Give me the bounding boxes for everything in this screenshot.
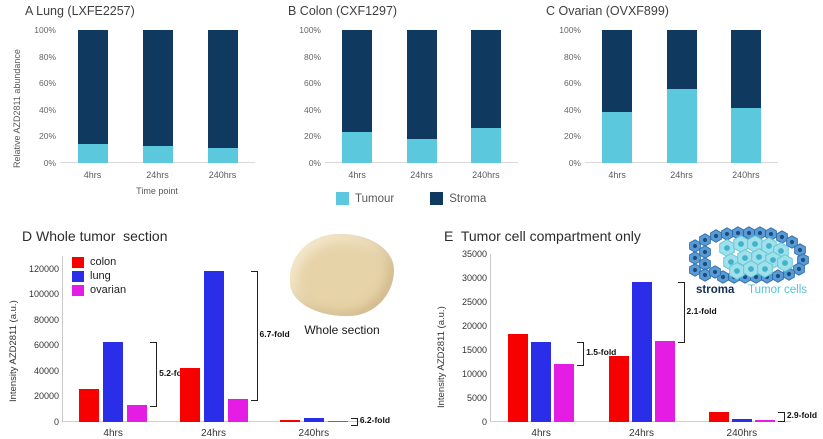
x-axis-tick: 240hrs xyxy=(299,428,330,439)
bar-segment-stroma xyxy=(143,30,173,146)
bar-colon xyxy=(280,420,300,422)
bar-ovarian xyxy=(228,399,248,422)
x-axis-tick: 24hrs xyxy=(410,170,433,180)
bar-segment-stroma xyxy=(342,30,372,132)
y-axis-tick: 100% xyxy=(4,25,56,35)
y-axis-tick: 5000 xyxy=(431,393,487,403)
y-axis-tick: 40% xyxy=(269,105,321,115)
fold-change-bracket xyxy=(678,282,685,343)
panel-c-title: C Ovarian (OVXF899) xyxy=(546,4,669,18)
y-axis-tick: 60% xyxy=(529,78,581,88)
bar-ovarian xyxy=(755,420,775,422)
y-axis-tick: 15000 xyxy=(431,345,487,355)
x-axis-tick: 24hrs xyxy=(146,170,169,180)
y-axis-tick: 20000 xyxy=(3,391,59,401)
x-axis-tick: 4hrs xyxy=(84,170,102,180)
y-axis-tick: 20% xyxy=(269,131,321,141)
stacked-bar xyxy=(407,30,437,163)
legend-label-stroma: Stroma xyxy=(449,193,486,205)
y-axis-tick: 30000 xyxy=(431,273,487,283)
fold-change-bracket xyxy=(351,418,358,426)
x-axis-tick: 4hrs xyxy=(608,170,626,180)
cell-diagram-label-stroma: stroma xyxy=(696,284,734,296)
panel-a-plot-area: 0%20%40%60%80%100%4hrs24hrs240hrs xyxy=(60,30,255,163)
x-axis-tick: 24hrs xyxy=(201,428,226,439)
stroma-swatch-icon xyxy=(430,192,443,205)
legend-tumour-stroma: Tumour Stroma xyxy=(336,192,486,205)
bar-segment-tumour xyxy=(602,112,632,163)
fold-change-label: 6.2-fold xyxy=(360,415,390,425)
stacked-bar xyxy=(208,30,238,163)
legend-item-stroma: Stroma xyxy=(430,192,486,205)
bar-ovarian xyxy=(328,421,348,423)
y-axis-tick: 120000 xyxy=(3,264,59,274)
bar-colon xyxy=(79,389,99,422)
legend-label-ovarian: ovarian xyxy=(90,284,126,296)
bar-colon xyxy=(508,334,528,422)
colon-swatch-icon xyxy=(72,257,84,268)
stacked-bar xyxy=(731,30,761,163)
y-axis-tick: 80% xyxy=(529,52,581,62)
stacked-bar xyxy=(143,30,173,163)
bar-segment-stroma xyxy=(78,30,108,144)
panel-a-x-axis-title: Time point xyxy=(136,186,178,196)
bar-lung xyxy=(103,342,123,422)
y-axis-tick: 60% xyxy=(4,78,56,88)
bar-segment-tumour xyxy=(407,139,437,163)
tumor-stroma-cell-diagram xyxy=(675,224,823,286)
x-axis-tick: 24hrs xyxy=(629,428,654,439)
panel-e-title: E Tumor cell compartment only xyxy=(444,228,641,244)
fold-change-bracket xyxy=(778,412,785,422)
y-axis-tick: 0 xyxy=(431,417,487,427)
tissue-section-caption: Whole section xyxy=(304,323,379,337)
panel-b-title: B Colon (CXF1297) xyxy=(288,4,397,18)
panel-c-ovarian: C Ovarian (OVXF899) 0%20%40%60%80%100%4h… xyxy=(543,0,823,200)
x-axis-tick: 240hrs xyxy=(727,428,758,439)
y-axis-tick: 40000 xyxy=(3,366,59,376)
x-axis-tick: 240hrs xyxy=(732,170,760,180)
y-axis-tick: 0% xyxy=(269,158,321,168)
bar-segment-tumour xyxy=(208,148,238,163)
cell-diagram-label-tumor: Tumor cells xyxy=(748,284,807,296)
legend-item-tumour: Tumour xyxy=(336,192,394,205)
panel-b-colon: B Colon (CXF1297) 0%20%40%60%80%100%4hrs… xyxy=(283,0,543,200)
stacked-bar xyxy=(78,30,108,163)
panel-d-title: D Whole tumor section xyxy=(22,228,168,244)
stacked-bar xyxy=(342,30,372,163)
bar-segment-tumour xyxy=(471,128,501,163)
fold-change-bracket xyxy=(577,342,584,367)
y-axis-tick: 100% xyxy=(529,25,581,35)
y-axis-tick: 80% xyxy=(4,52,56,62)
bar-segment-stroma xyxy=(407,30,437,139)
panel-d-whole-tumor-section: D Whole tumor section Intensity AZD2811 … xyxy=(0,222,430,437)
y-axis-tick: 100000 xyxy=(3,289,59,299)
bar-lung xyxy=(632,282,652,422)
fold-change-bracket xyxy=(251,271,258,401)
panel-c-plot-area: 0%20%40%60%80%100%4hrs24hrs240hrs xyxy=(585,30,778,163)
fold-change-label: 6.7-fold xyxy=(260,329,290,339)
y-axis-tick: 20000 xyxy=(431,321,487,331)
panel-b-plot-area: 0%20%40%60%80%100%4hrs24hrs240hrs xyxy=(325,30,518,163)
bar-ovarian xyxy=(127,405,147,422)
bar-lung xyxy=(204,271,224,422)
bar-lung xyxy=(732,419,752,422)
bar-segment-stroma xyxy=(667,30,697,89)
stacked-bar xyxy=(471,30,501,163)
x-axis-tick: 240hrs xyxy=(209,170,237,180)
panel-d-legend: colon lung ovarian xyxy=(72,256,126,298)
y-axis-tick: 0% xyxy=(529,158,581,168)
bar-segment-stroma xyxy=(471,30,501,128)
bar-segment-tumour xyxy=(78,144,108,163)
x-axis-tick: 24hrs xyxy=(670,170,693,180)
y-axis-tick: 40% xyxy=(529,105,581,115)
x-axis-tick: 4hrs xyxy=(531,428,550,439)
bar-segment-tumour xyxy=(342,132,372,163)
y-axis-tick: 10000 xyxy=(431,369,487,379)
bar-colon xyxy=(609,356,629,422)
stacked-bar xyxy=(667,30,697,163)
x-axis-tick: 240hrs xyxy=(472,170,500,180)
y-axis-tick: 20% xyxy=(529,131,581,141)
y-axis-tick: 0% xyxy=(4,158,56,168)
bar-ovarian xyxy=(655,341,675,422)
bar-colon xyxy=(180,368,200,422)
lung-swatch-icon xyxy=(72,271,84,282)
panel-a-title: A Lung (LXFE2257) xyxy=(25,4,135,18)
x-axis-tick: 4hrs xyxy=(103,428,122,439)
tumour-swatch-icon xyxy=(336,192,349,205)
x-axis-tick: 4hrs xyxy=(348,170,366,180)
bar-segment-stroma xyxy=(208,30,238,148)
y-axis-tick: 60000 xyxy=(3,340,59,350)
y-axis-tick: 80% xyxy=(269,52,321,62)
y-axis-tick: 80000 xyxy=(3,315,59,325)
panel-e-tumor-cell-compartment: E Tumor cell compartment only Intensity … xyxy=(430,222,823,437)
y-axis-tick: 25000 xyxy=(431,297,487,307)
legend-label-lung: lung xyxy=(90,270,111,282)
legend-label-colon: colon xyxy=(90,256,116,268)
tissue-section-image xyxy=(290,234,394,316)
ovarian-swatch-icon xyxy=(72,285,84,296)
y-axis-tick: 40% xyxy=(4,105,56,115)
bar-segment-stroma xyxy=(602,30,632,112)
bar-segment-stroma xyxy=(731,30,761,108)
y-axis-tick: 35000 xyxy=(431,249,487,259)
bar-segment-tumour xyxy=(731,108,761,163)
y-axis-tick: 60% xyxy=(269,78,321,88)
bar-lung xyxy=(531,342,551,422)
legend-label-tumour: Tumour xyxy=(355,193,394,205)
fold-change-label: 2.1-fold xyxy=(687,306,717,316)
bar-ovarian xyxy=(554,364,574,422)
bar-segment-tumour xyxy=(143,146,173,163)
fold-change-bracket xyxy=(150,342,157,407)
legend-item-colon: colon xyxy=(72,256,126,268)
y-axis-tick: 20% xyxy=(4,131,56,141)
stacked-bar xyxy=(602,30,632,163)
panel-a-lung: A Lung (LXFE2257) Relative AZD2811 abund… xyxy=(0,0,280,200)
legend-item-ovarian: ovarian xyxy=(72,284,126,296)
y-axis-tick: 100% xyxy=(269,25,321,35)
y-axis-tick: 0 xyxy=(3,417,59,427)
bar-segment-tumour xyxy=(667,89,697,163)
legend-item-lung: lung xyxy=(72,270,126,282)
bar-colon xyxy=(709,412,729,422)
fold-change-label: 2.9-fold xyxy=(787,410,817,420)
bar-lung xyxy=(304,418,324,422)
